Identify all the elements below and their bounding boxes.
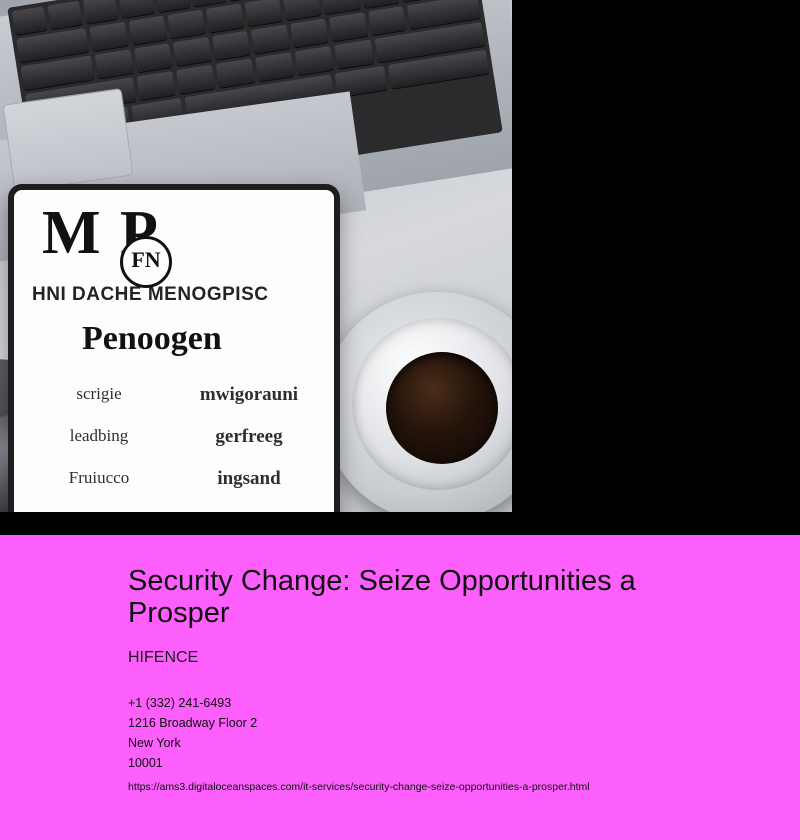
paper-word: mwigorauni [174, 384, 324, 406]
paper-word-grid: scrigie mwigorauni leadbing gerfreeg Fru… [24, 384, 324, 512]
key [83, 0, 119, 24]
paper-card: M P FN HNI DACHE MENOGPISC Penoogen scri… [8, 184, 340, 512]
key [48, 1, 84, 30]
key [155, 0, 191, 12]
hero-image: M P FN HNI DACHE MENOGPISC Penoogen scri… [0, 0, 512, 512]
address-line: 1216 Broadway Floor 2 [128, 713, 800, 733]
paper-word: leadbing [24, 426, 174, 448]
paper-subtitle: HNI DACHE MENOGPISC [32, 284, 324, 306]
caption-panel: Security Change: Seize Opportunities a P… [0, 535, 800, 840]
key [12, 6, 48, 35]
phone-number: +1 (332) 241-6493 [128, 693, 800, 713]
key [251, 25, 290, 54]
key [290, 18, 329, 47]
caption-content: Security Change: Seize Opportunities a P… [0, 535, 800, 793]
paper-word: scrigie [24, 384, 174, 406]
paper-heading: Penoogen [82, 320, 324, 358]
key [215, 58, 254, 87]
key [212, 31, 251, 60]
paper-word: Fruiucco [24, 468, 174, 490]
key [295, 46, 334, 75]
address-zip: 10001 [128, 753, 800, 773]
key [176, 65, 215, 94]
trackpad [2, 88, 133, 192]
key [244, 0, 282, 27]
contact-block: +1 (332) 241-6493 1216 Broadway Floor 2 … [128, 693, 800, 773]
paper-badge: FN [120, 236, 172, 288]
key [173, 37, 212, 66]
key [136, 71, 175, 100]
page-url: https://ams3.digitaloceanspaces.com/it-s… [128, 781, 800, 793]
key [283, 0, 321, 20]
key [255, 52, 294, 81]
paper-word: coloae [24, 510, 174, 512]
key [95, 49, 134, 78]
key [329, 12, 368, 41]
key [368, 6, 407, 35]
paper-word: ingsand [174, 468, 324, 490]
address-city: New York [128, 733, 800, 753]
key [119, 0, 155, 18]
paper-card-content: M P FN HNI DACHE MENOGPISC Penoogen scri… [14, 190, 334, 512]
key [334, 40, 373, 69]
key [322, 0, 360, 14]
key [128, 16, 166, 45]
coffee-liquid [386, 352, 498, 464]
paper-word: gerfreeg [174, 426, 324, 448]
key [90, 22, 128, 51]
brand-name: HIFENCE [128, 649, 800, 667]
paper-title: M P [42, 202, 324, 264]
paper-word: sersese [174, 510, 324, 512]
key [206, 3, 244, 32]
key [167, 10, 205, 39]
page-title: Security Change: Seize Opportunities a P… [128, 565, 728, 629]
key [134, 43, 173, 72]
